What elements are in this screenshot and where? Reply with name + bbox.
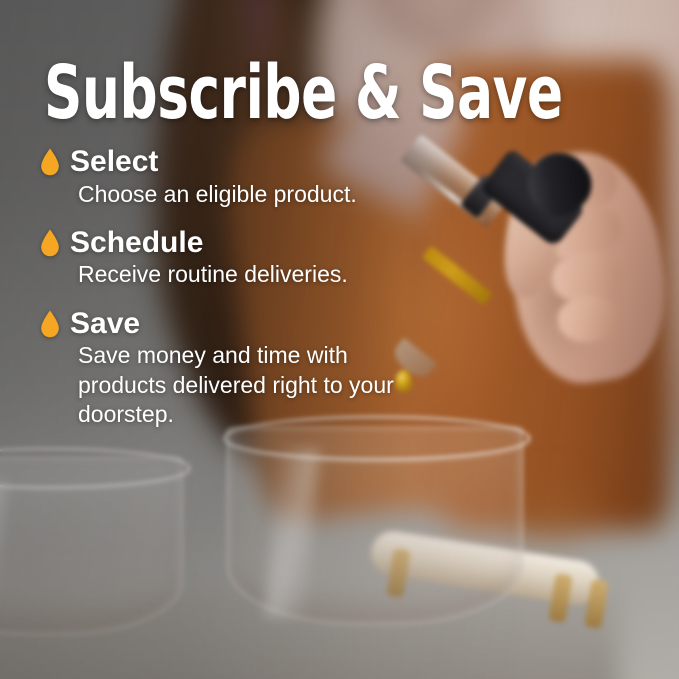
- step-title: Save: [70, 308, 140, 340]
- step-description: Choose an eligible product.: [40, 180, 430, 209]
- step-header: Schedule: [40, 227, 430, 259]
- step-description: Receive routine deliveries.: [40, 260, 430, 289]
- step-title: Schedule: [70, 227, 203, 259]
- oil-drop-icon: [40, 148, 60, 176]
- oil-drop-icon: [40, 310, 60, 338]
- step-description: Save money and time with products delive…: [40, 341, 430, 429]
- oil-drop-icon: [40, 229, 60, 257]
- step-header: Select: [40, 146, 430, 178]
- step-header: Save: [40, 308, 430, 340]
- list-item-save: Save Save money and time with products d…: [40, 308, 430, 430]
- steps-list: Select Choose an eligible product. Sched…: [40, 146, 430, 430]
- list-item-schedule: Schedule Receive routine deliveries.: [40, 227, 430, 290]
- page-title: Subscribe & Save: [44, 56, 563, 130]
- subscribe-and-save-promo-card: Subscribe & Save Select Choose an eligib…: [0, 0, 679, 679]
- step-title: Select: [70, 146, 158, 178]
- list-item-select: Select Choose an eligible product.: [40, 146, 430, 209]
- promo-content: Subscribe & Save Select Choose an eligib…: [0, 0, 679, 679]
